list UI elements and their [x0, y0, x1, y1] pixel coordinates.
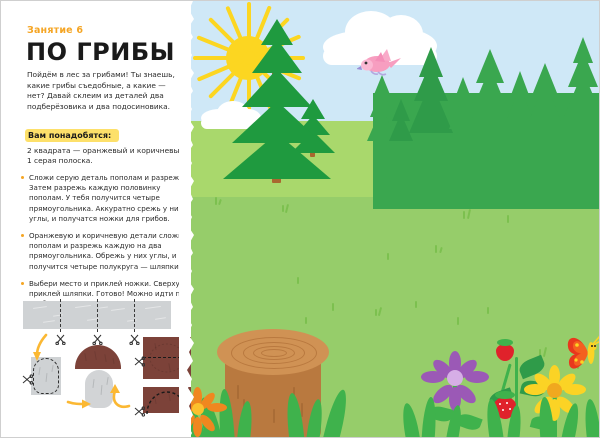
- torn-paper-edge: [179, 1, 201, 438]
- scissors-icon: [22, 370, 33, 389]
- page-title: ПО ГРИБЫ: [26, 38, 175, 66]
- gray-stem-finished: [85, 370, 113, 408]
- intro-paragraph: Пойдём в лес за грибами! Ты знаешь, каки…: [27, 70, 183, 112]
- list-item: Оранжевую и коричневую детали сложи попо…: [21, 231, 191, 272]
- bird-icon: [357, 47, 403, 77]
- large-fir-tree: [223, 23, 333, 183]
- scissors-icon: [134, 402, 145, 421]
- strawberry-unripe: [495, 339, 515, 361]
- cut-line: [97, 299, 98, 332]
- steps-list: Сложи серую деталь пополам и разрежь. За…: [21, 173, 191, 316]
- craft-diagram: [19, 301, 187, 427]
- lesson-label: Занятие 6: [27, 25, 83, 36]
- brown-mushroom-cap: [75, 345, 121, 369]
- scissors-icon: [55, 330, 66, 349]
- scissors-icon: [129, 330, 140, 349]
- forest-illustration: [187, 1, 600, 438]
- cut-line: [134, 299, 135, 332]
- needs-heading: Вам понадобятся:: [28, 131, 111, 140]
- list-item: Сложи серую деталь пополам и разрежь. За…: [21, 173, 191, 224]
- needs-body: 2 квадрата — оранжевый и коричневый; 1 с…: [27, 146, 187, 167]
- craft-book-page: Занятие 6 ПО ГРИБЫ Пойдём в лес за гриба…: [0, 0, 600, 438]
- cut-line: [60, 299, 61, 332]
- scissors-icon: [134, 352, 145, 371]
